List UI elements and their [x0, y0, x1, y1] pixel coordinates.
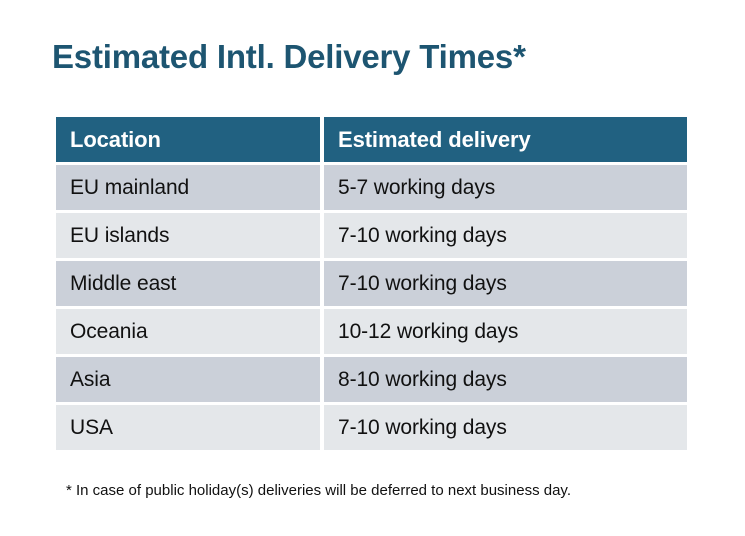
- table-row: USA 7-10 working days: [56, 405, 687, 450]
- column-header-location: Location: [56, 117, 320, 162]
- delivery-times-page: Estimated Intl. Delivery Times* Location…: [0, 0, 745, 536]
- table-row: Asia 8-10 working days: [56, 357, 687, 402]
- footnote-text: * In case of public holiday(s) deliverie…: [66, 481, 571, 501]
- table-body: EU mainland 5-7 working days EU islands …: [56, 165, 687, 450]
- cell-location: Asia: [56, 357, 320, 402]
- page-title: Estimated Intl. Delivery Times*: [52, 37, 526, 77]
- cell-delivery: 7-10 working days: [324, 261, 687, 306]
- cell-location: EU islands: [56, 213, 320, 258]
- table-row: Middle east 7-10 working days: [56, 261, 687, 306]
- cell-delivery: 7-10 working days: [324, 405, 687, 450]
- table-row: EU mainland 5-7 working days: [56, 165, 687, 210]
- cell-location: Oceania: [56, 309, 320, 354]
- table-row: Oceania 10-12 working days: [56, 309, 687, 354]
- cell-location: EU mainland: [56, 165, 320, 210]
- table-header-row: Location Estimated delivery: [56, 117, 687, 162]
- cell-delivery: 5-7 working days: [324, 165, 687, 210]
- estimated-delivery-table: Location Estimated delivery EU mainland …: [52, 114, 691, 453]
- cell-delivery: 10-12 working days: [324, 309, 687, 354]
- cell-delivery: 7-10 working days: [324, 213, 687, 258]
- column-header-estimated-delivery: Estimated delivery: [324, 117, 687, 162]
- table-row: EU islands 7-10 working days: [56, 213, 687, 258]
- cell-location: Middle east: [56, 261, 320, 306]
- table-header: Location Estimated delivery: [56, 117, 687, 162]
- cell-location: USA: [56, 405, 320, 450]
- cell-delivery: 8-10 working days: [324, 357, 687, 402]
